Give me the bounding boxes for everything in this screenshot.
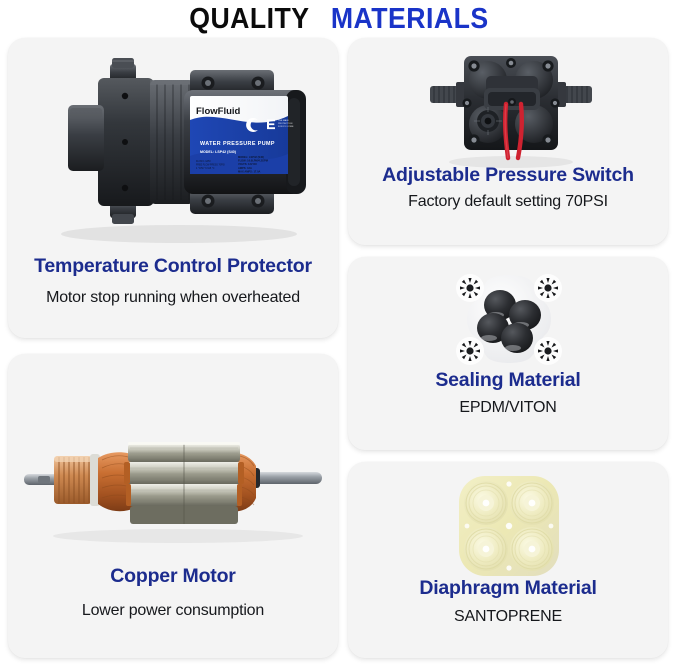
- card-caption: Copper Motor Lower power consumption: [8, 566, 338, 621]
- svg-text:THE MAIN: THE MAIN: [278, 119, 289, 122]
- copper-armature-illustration: [18, 428, 328, 548]
- svg-text:FOR P.C.CORE: FOR P.C.CORE: [278, 126, 294, 128]
- svg-text:WATER PRESSURE PUMP: WATER PRESSURE PUMP: [200, 141, 275, 147]
- card-heading: Copper Motor: [8, 566, 338, 587]
- pressure-switch-illustration: [426, 46, 596, 171]
- svg-text:AMPS: 12A: AMPS: 12A: [238, 166, 252, 170]
- card-subtitle: SANTOPRENE: [348, 608, 668, 626]
- card-heading: Diaphragm Material: [348, 578, 668, 599]
- page-title: QUALITY MATERIALS: [0, 0, 679, 38]
- card-heading: Sealing Material: [348, 370, 668, 391]
- card-heading: Temperature Control Protector: [8, 256, 338, 277]
- water-pressure-pump-illustration: FlowFluid THE MAIN PROTECTION FOR P.C.CO…: [24, 50, 324, 250]
- page-title-primary: QUALITY: [189, 3, 309, 36]
- svg-text:FLOW 1 GPM: FLOW 1 GPM: [196, 161, 211, 163]
- svg-text:4 °C/50 °C/115 °C: 4 °C/50 °C/115 °C: [196, 168, 215, 170]
- card-caption: Sealing Material EPDM/VITON: [348, 370, 668, 418]
- four-chamber-diaphragm-illustration: [453, 470, 565, 582]
- card-subtitle: Lower power consumption: [8, 602, 338, 620]
- card-subtitle: Factory default setting 70PSI: [348, 193, 668, 211]
- svg-text:FREE FLOW PRESS 70PSI: FREE FLOW PRESS 70PSI: [196, 165, 225, 167]
- card-caption: Temperature Control Protector Motor stop…: [8, 256, 338, 308]
- svg-text:VOLTS: 12V DC: VOLTS: 12V DC: [238, 162, 257, 166]
- card-adjustable-pressure-switch: Adjustable Pressure Switch Factory defau…: [348, 38, 668, 245]
- card-caption: Diaphragm Material SANTOPRENE: [348, 578, 668, 627]
- svg-text:MAX AMPS: 17.0A: MAX AMPS: 17.0A: [238, 169, 261, 173]
- svg-text:MODEL: LSP42 (S40): MODEL: LSP42 (S40): [238, 155, 264, 159]
- svg-text:PROTECTION: PROTECTION: [278, 123, 293, 125]
- page-title-secondary: MATERIALS: [330, 3, 488, 36]
- card-sealing-material: Sealing Material EPDM/VITON: [348, 257, 668, 450]
- infographic-page: QUALITY MATERIALS: [0, 0, 679, 670]
- valve-seal-plate-illustration: [441, 263, 577, 375]
- card-subtitle: EPDM/VITON: [348, 399, 668, 417]
- card-temperature-control-protector: FlowFluid THE MAIN PROTECTION FOR P.C.CO…: [8, 38, 338, 338]
- svg-text:FlowFluid: FlowFluid: [196, 106, 241, 117]
- svg-text:FLOW: 16.0LPM/4.2GPM: FLOW: 16.0LPM/4.2GPM: [238, 159, 268, 163]
- card-subtitle: Motor stop running when overheated: [8, 289, 338, 307]
- svg-text:MODEL: LSP42 (S40): MODEL: LSP42 (S40): [200, 150, 237, 154]
- card-heading: Adjustable Pressure Switch: [348, 165, 668, 186]
- card-caption: Adjustable Pressure Switch Factory defau…: [348, 165, 668, 212]
- card-diaphragm-material: Diaphragm Material SANTOPRENE: [348, 462, 668, 658]
- card-copper-motor: Copper Motor Lower power consumption: [8, 354, 338, 658]
